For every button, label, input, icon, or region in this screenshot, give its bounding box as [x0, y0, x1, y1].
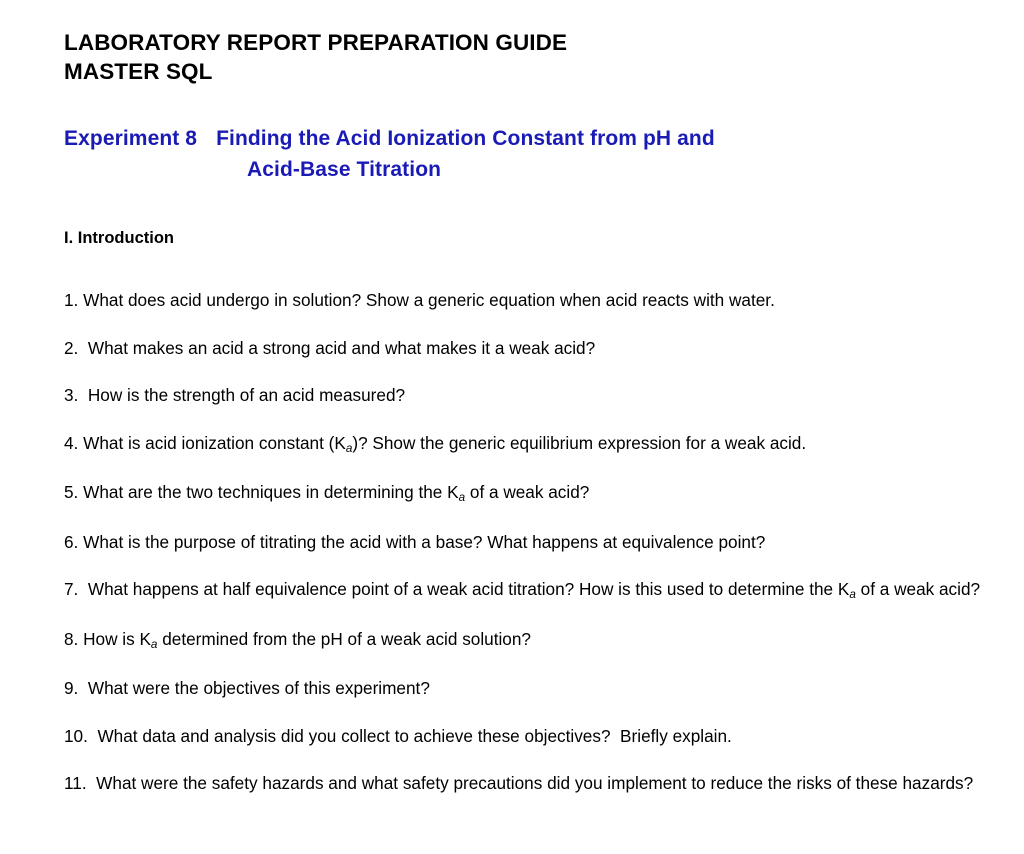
question-item: 9. What were the objectives of this expe…	[64, 677, 986, 701]
question-item: 3. How is the strength of an acid measur…	[64, 384, 986, 408]
section-heading-introduction: I. Introduction	[64, 228, 174, 249]
document-page: LABORATORY REPORT PREPARATION GUIDE MAST…	[0, 0, 1024, 854]
question-item: 8. How is Ka determined from the pH of a…	[64, 628, 986, 654]
question-item: 11. What were the safety hazards and wha…	[64, 772, 986, 796]
subscript-a: a	[849, 588, 856, 601]
question-text: 8. How is Ka determined from the pH of a…	[64, 629, 531, 649]
experiment-heading-row-1: Experiment 8Finding the Acid Ionization …	[64, 123, 974, 154]
question-item: 6. What is the purpose of titrating the …	[64, 531, 986, 555]
question-text: 1. What does acid undergo in solution? S…	[64, 290, 775, 310]
subscript-a: a	[151, 638, 158, 651]
question-list: 1. What does acid undergo in solution? S…	[64, 289, 986, 796]
question-text: 3. How is the strength of an acid measur…	[64, 385, 405, 405]
document-title-line-2: MASTER SQL	[64, 57, 964, 86]
question-text: 6. What is the purpose of titrating the …	[64, 532, 765, 552]
experiment-title-line-2: Acid-Base Titration	[247, 154, 974, 185]
question-item: 10. What data and analysis did you colle…	[64, 725, 986, 749]
experiment-title-line-1: Finding the Acid Ionization Constant fro…	[216, 123, 715, 154]
question-text: 9. What were the objectives of this expe…	[64, 678, 430, 698]
question-text: 11. What were the safety hazards and wha…	[64, 773, 973, 793]
question-text: 10. What data and analysis did you colle…	[64, 726, 732, 746]
experiment-heading: Experiment 8Finding the Acid Ionization …	[64, 123, 974, 185]
subscript-a: a	[459, 491, 466, 504]
question-item: 5. What are the two techniques in determ…	[64, 481, 986, 507]
document-title: LABORATORY REPORT PREPARATION GUIDE MAST…	[64, 28, 964, 86]
question-item: 2. What makes an acid a strong acid and …	[64, 337, 986, 361]
experiment-label: Experiment 8	[64, 123, 197, 154]
question-text: 5. What are the two techniques in determ…	[64, 482, 589, 502]
question-item: 4. What is acid ionization constant (Ka)…	[64, 432, 986, 458]
document-title-line-1: LABORATORY REPORT PREPARATION GUIDE	[64, 28, 964, 57]
subscript-a: a	[346, 442, 353, 455]
question-text: 2. What makes an acid a strong acid and …	[64, 338, 595, 358]
question-text: 7. What happens at half equivalence poin…	[64, 579, 980, 599]
question-text: 4. What is acid ionization constant (Ka)…	[64, 433, 806, 453]
question-item: 7. What happens at half equivalence poin…	[64, 578, 986, 604]
question-item: 1. What does acid undergo in solution? S…	[64, 289, 986, 313]
